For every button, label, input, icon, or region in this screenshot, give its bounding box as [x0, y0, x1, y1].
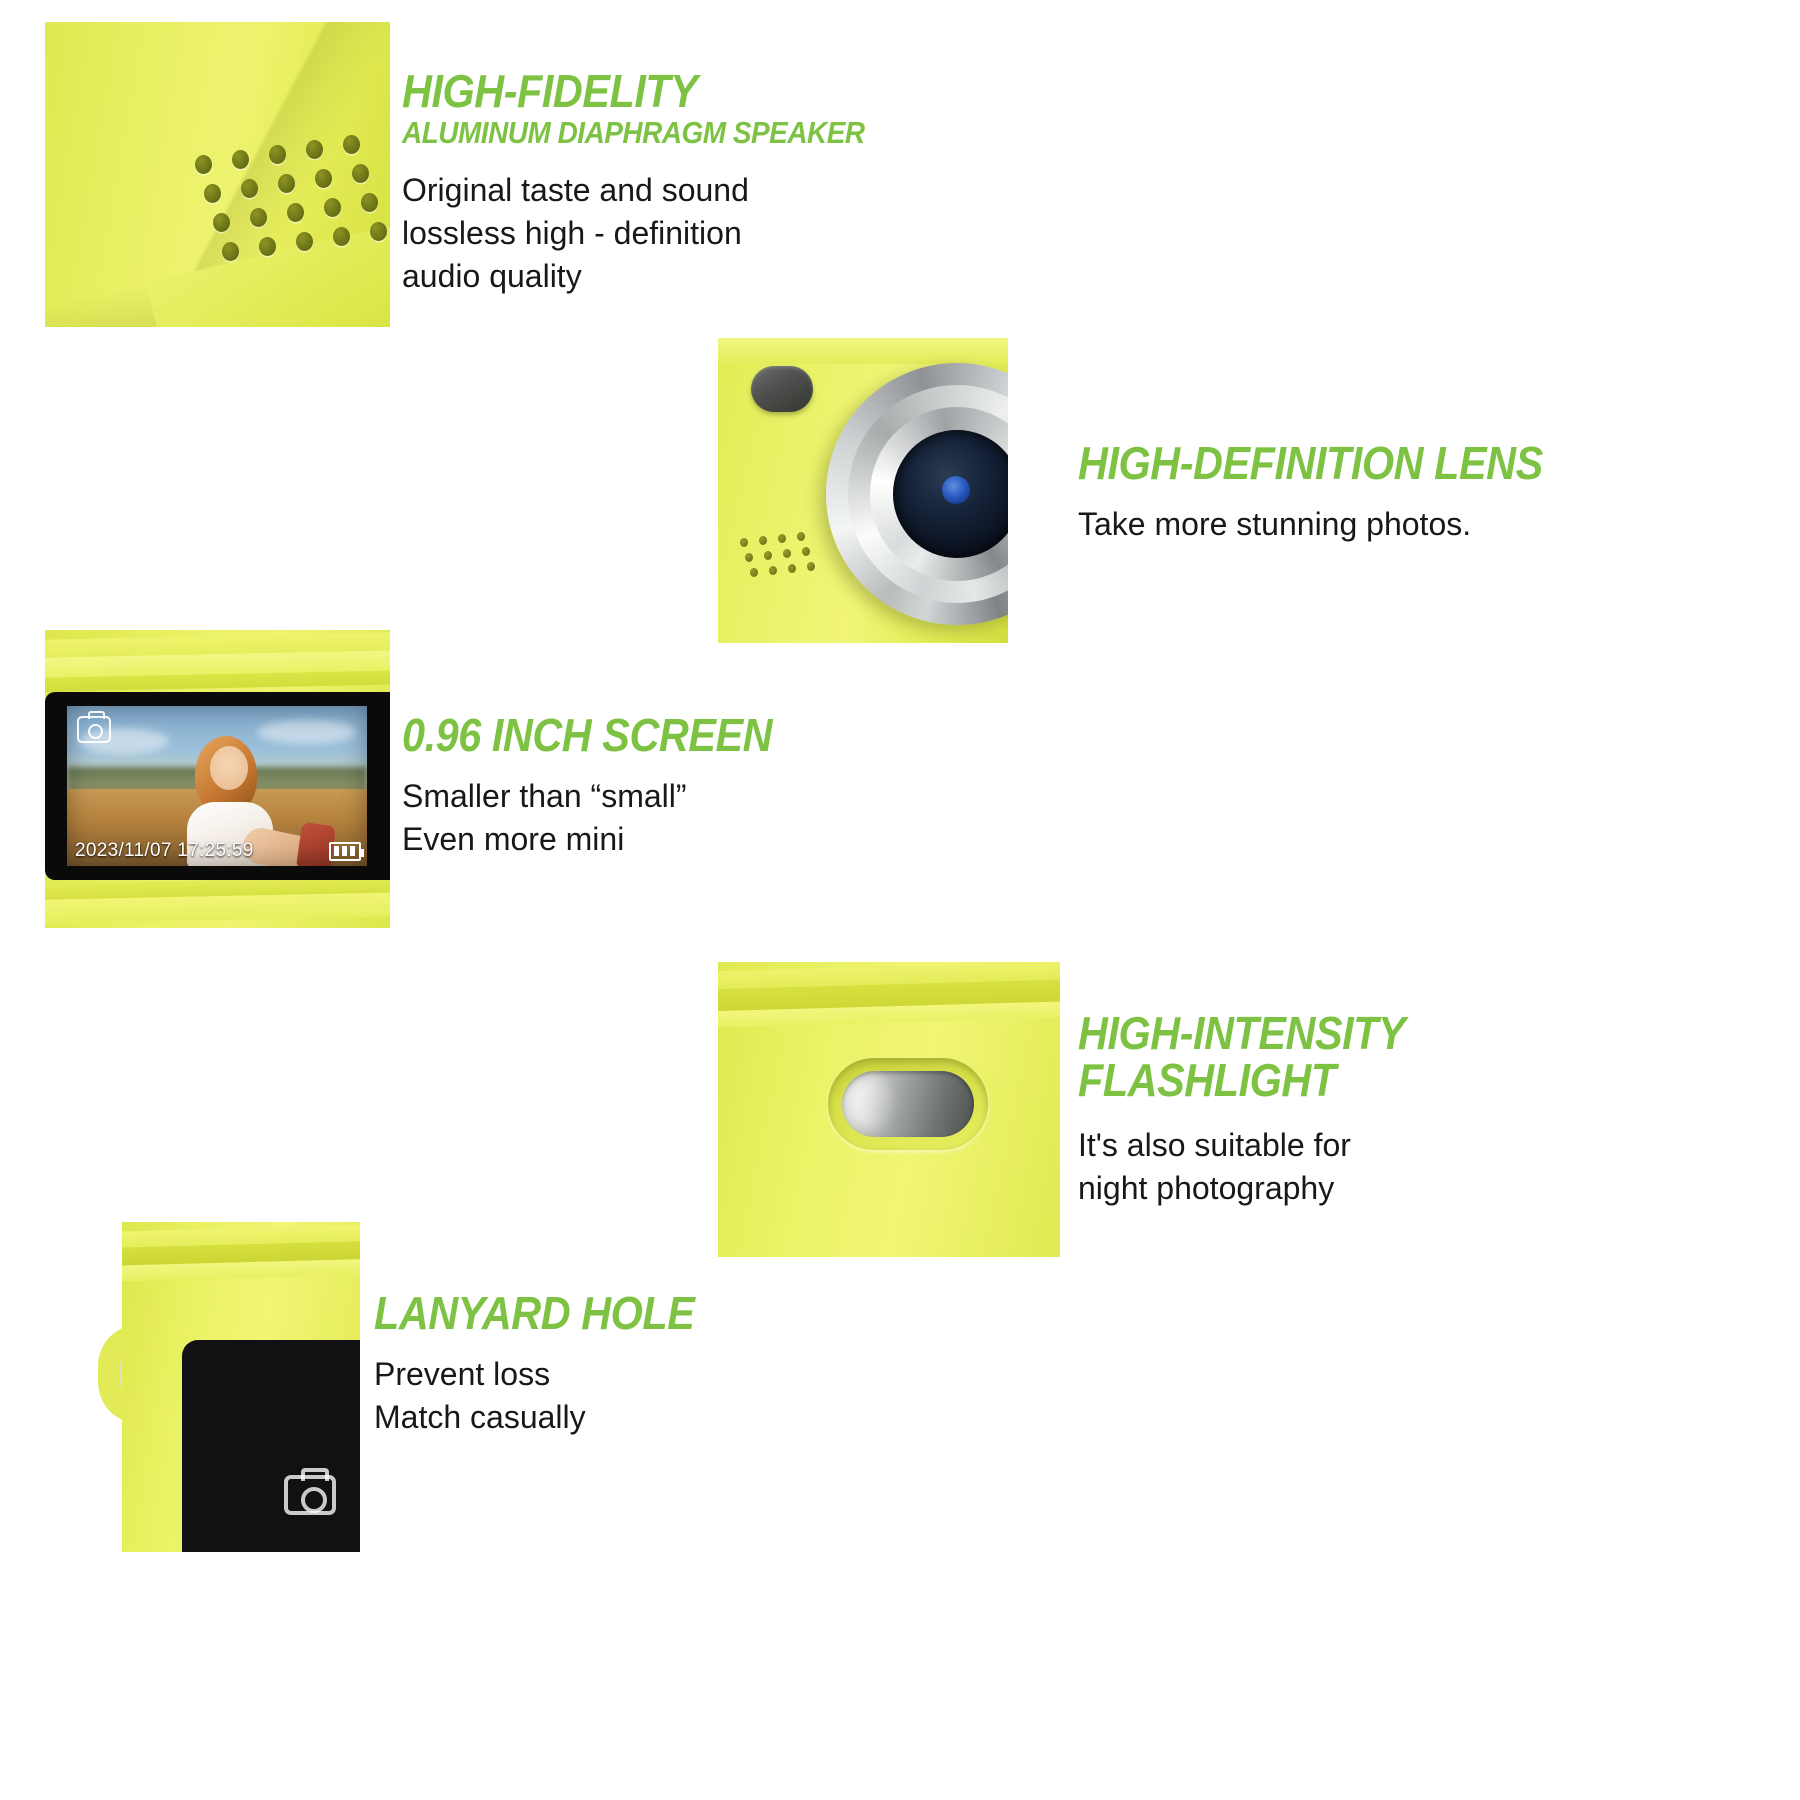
feature-heading-screen: 0.96 INCH SCREEN — [402, 712, 772, 759]
lcd-timestamp: 2023/11/07 17:25:59 — [75, 840, 254, 862]
feature-heading-flashlight: HIGH-INTENSITY — [1078, 1010, 1405, 1057]
speaker-hole — [370, 222, 387, 241]
speaker-hole — [802, 547, 810, 556]
speaker-hole — [259, 237, 276, 256]
lens-glass — [893, 430, 1008, 558]
feature-text-lanyard: LANYARD HOLE Prevent loss Match casually — [374, 1290, 730, 1439]
speaker-hole — [769, 566, 777, 575]
flashlight-led — [842, 1071, 974, 1137]
screen-product-photo: 2023/11/07 17:25:59 — [45, 630, 390, 928]
lcd-osd-bar: 2023/11/07 17:25:59 — [67, 836, 367, 866]
speaker-hole — [343, 135, 360, 154]
speaker-hole — [807, 562, 815, 571]
speaker-hole — [315, 169, 332, 188]
speaker-hole — [296, 232, 313, 251]
speaker-hole — [764, 551, 772, 560]
speaker-hole — [788, 564, 796, 573]
camera-icon — [284, 1475, 336, 1515]
feature-subheading-flashlight: FLASHLIGHT — [1078, 1057, 1405, 1104]
speaker-hole — [213, 213, 230, 232]
flashlight-recess — [828, 1058, 988, 1150]
lens-barrel — [826, 363, 1008, 625]
feature-body-screen: Smaller than “small” Even more mini — [402, 775, 813, 861]
lens-ring-inner — [870, 407, 1008, 581]
lcd-display: 2023/11/07 17:25:59 — [67, 706, 367, 866]
lcd-bezel: 2023/11/07 17:25:59 — [45, 692, 390, 880]
feature-text-lens: HIGH-DEFINITION LENS Take more stunning … — [1078, 440, 1594, 546]
feature-heading-lens: HIGH-DEFINITION LENS — [1078, 440, 1543, 487]
feature-body-flashlight: It's also suitable for night photography — [1078, 1124, 1442, 1210]
speaker-hole — [745, 553, 753, 562]
speaker-hole — [232, 150, 249, 169]
lanyard-product-photo — [98, 1222, 360, 1552]
flashlight-product-photo — [718, 962, 1060, 1257]
feature-text-flashlight: HIGH-INTENSITY FLASHLIGHT It's also suit… — [1078, 1010, 1442, 1210]
feature-body-speaker: Original taste and sound lossless high -… — [402, 169, 916, 299]
speaker-hole — [778, 534, 786, 543]
speaker-hole — [269, 145, 286, 164]
camera-icon — [77, 716, 111, 743]
feature-heading-lanyard: LANYARD HOLE — [374, 1290, 694, 1337]
speaker-hole — [278, 174, 295, 193]
speaker-hole — [222, 242, 239, 261]
speaker-hole — [204, 184, 221, 203]
lens-ring-outer — [848, 385, 1008, 603]
speaker-hole — [241, 179, 258, 198]
speaker-hole — [333, 227, 350, 246]
speaker-hole — [250, 208, 267, 227]
feature-body-lens: Take more stunning photos. — [1078, 503, 1594, 546]
shutter-button — [751, 366, 813, 412]
photo-top-strip — [718, 338, 1008, 364]
lcd-bezel — [182, 1340, 360, 1552]
feature-text-speaker: HIGH-FIDELITY ALUMINUM DIAPHRAGM SPEAKER… — [402, 68, 916, 298]
speaker-hole — [324, 198, 341, 217]
speaker-hole — [750, 568, 758, 577]
speaker-hole — [306, 140, 323, 159]
feature-text-screen: 0.96 INCH SCREEN Smaller than “small” Ev… — [402, 712, 813, 861]
feature-heading-speaker: HIGH-FIDELITY — [402, 68, 865, 115]
infographic-page: HIGH-FIDELITY ALUMINUM DIAPHRAGM SPEAKER… — [0, 0, 1800, 1800]
speaker-hole — [759, 536, 767, 545]
battery-full-icon — [329, 842, 361, 861]
speaker-hole — [287, 203, 304, 222]
feature-subheading-speaker: ALUMINUM DIAPHRAGM SPEAKER — [402, 117, 865, 149]
speaker-hole — [740, 538, 748, 547]
speaker-hole — [783, 549, 791, 558]
feature-body-lanyard: Prevent loss Match casually — [374, 1353, 730, 1439]
speaker-hole — [797, 532, 805, 541]
speaker-product-photo — [45, 22, 390, 327]
speaker-hole — [352, 164, 369, 183]
speaker-hole — [195, 155, 212, 174]
speaker-hole — [361, 193, 378, 212]
lens-product-photo — [718, 338, 1008, 643]
